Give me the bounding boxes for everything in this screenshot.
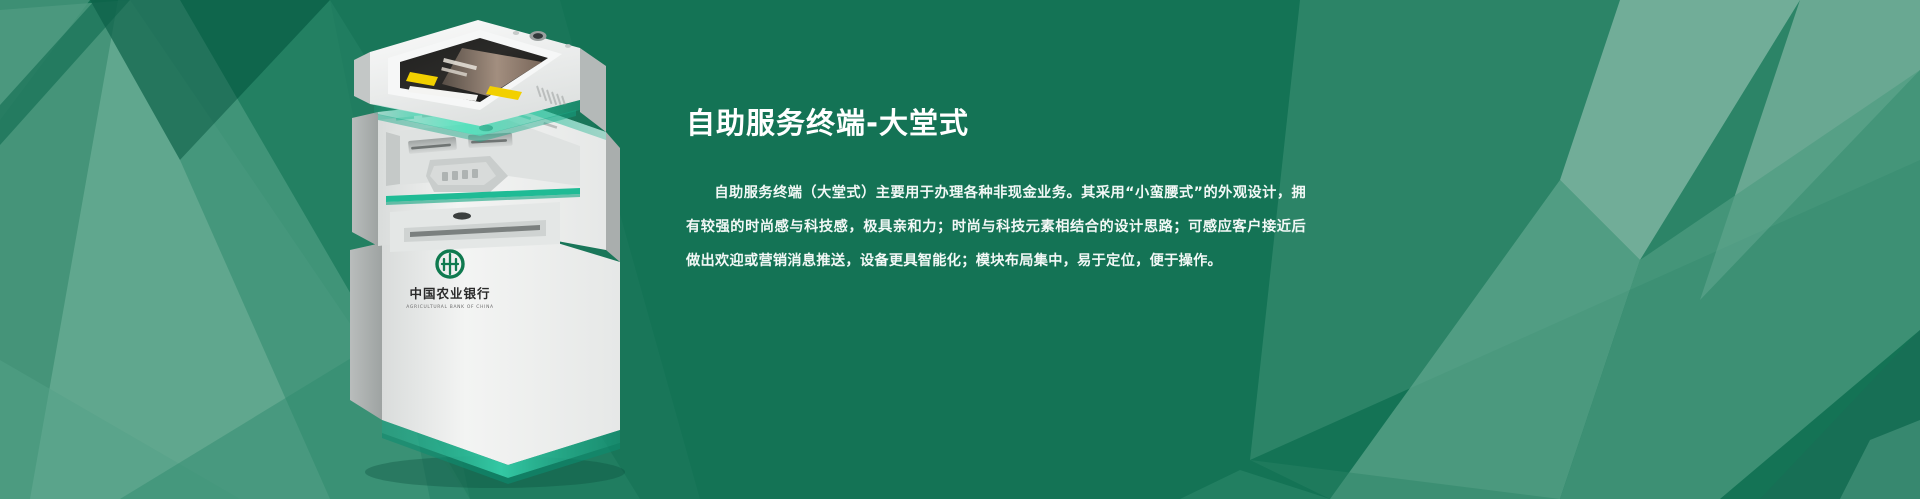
indicator-led-icon (565, 44, 571, 48)
kiosk-right-edge-lower (606, 132, 620, 262)
product-banner: 中国农业银行 AGRICULTURAL BANK OF CHINA (0, 0, 1920, 499)
kiosk-pedestal-side (350, 243, 382, 420)
kiosk-pedestal-front (382, 228, 620, 465)
kiosk-right-edge (580, 48, 606, 132)
product-photo-kiosk: 中国农业银行 AGRICULTURAL BANK OF CHINA (330, 0, 650, 499)
banner-text-column: 自助服务终端-大堂式 自助服务终端（大堂式）主要用于办理各种非现金业务。其采用“… (686, 0, 1346, 499)
brand-name-en: AGRICULTURAL BANK OF CHINA (406, 304, 494, 310)
proximity-sensor-icon (513, 31, 519, 35)
printer-status-light (453, 212, 471, 219)
kiosk-waist-side (352, 112, 378, 246)
module-bay-left-wall (386, 132, 400, 186)
product-description: 自助服务终端（大堂式）主要用于办理各种非现金业务。其采用“小蛮腰式”的外观设计，… (686, 176, 1306, 278)
page-title: 自助服务终端-大堂式 (686, 106, 969, 141)
camera-lens-icon (533, 33, 543, 39)
kiosk-illustration: 中国农业银行 AGRICULTURAL BANK OF CHINA (330, 0, 650, 499)
screen-housing-side (354, 52, 370, 104)
brand-name-cn: 中国农业银行 (409, 286, 490, 301)
